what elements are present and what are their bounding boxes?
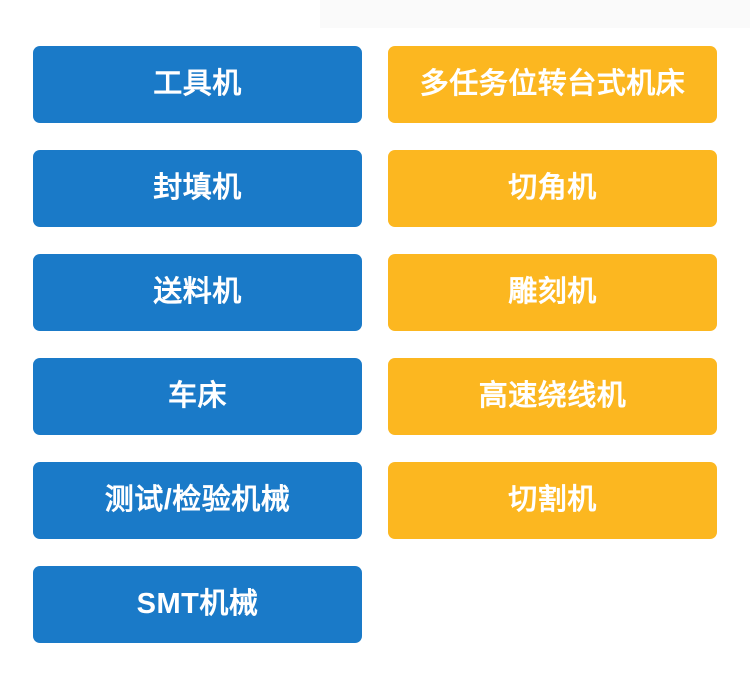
category-button-label: 测试/检验机械 bbox=[105, 486, 291, 515]
category-button-label: SMT机械 bbox=[137, 590, 259, 619]
category-button-label: 雕刻机 bbox=[508, 278, 597, 307]
category-button-label: 切割机 bbox=[508, 486, 597, 515]
category-button-smt-machinery[interactable]: SMT机械 bbox=[33, 566, 362, 643]
category-button-label: 工具机 bbox=[153, 70, 242, 99]
category-button-high-speed-winding-machine[interactable]: 高速绕线机 bbox=[388, 358, 717, 435]
category-column-left: 工具机 封填机 送料机 车床 测试/检验机械 SMT机械 bbox=[33, 46, 362, 643]
category-button-label: 车床 bbox=[168, 382, 227, 411]
category-button-corner-cutting-machine[interactable]: 切角机 bbox=[388, 150, 717, 227]
category-button-label: 多任务位转台式机床 bbox=[420, 70, 686, 99]
category-button-label: 送料机 bbox=[153, 278, 242, 307]
category-button-tool-machine[interactable]: 工具机 bbox=[33, 46, 362, 123]
category-button-label: 封填机 bbox=[153, 174, 242, 203]
category-button-lathe[interactable]: 车床 bbox=[33, 358, 362, 435]
category-button-feeder-machine[interactable]: 送料机 bbox=[33, 254, 362, 331]
category-button-cutting-machine[interactable]: 切割机 bbox=[388, 462, 717, 539]
category-button-grid: 工具机 封填机 送料机 车床 测试/检验机械 SMT机械 多任务位转台式机床 切… bbox=[0, 0, 750, 698]
category-button-label: 切角机 bbox=[508, 174, 597, 203]
category-button-engraving-machine[interactable]: 雕刻机 bbox=[388, 254, 717, 331]
category-column-right: 多任务位转台式机床 切角机 雕刻机 高速绕线机 切割机 bbox=[388, 46, 717, 539]
category-button-testing-inspection-machinery[interactable]: 测试/检验机械 bbox=[33, 462, 362, 539]
category-button-multi-station-rotary-table-machine[interactable]: 多任务位转台式机床 bbox=[388, 46, 717, 123]
category-button-label: 高速绕线机 bbox=[479, 382, 627, 411]
category-button-sealing-filling-machine[interactable]: 封填机 bbox=[33, 150, 362, 227]
